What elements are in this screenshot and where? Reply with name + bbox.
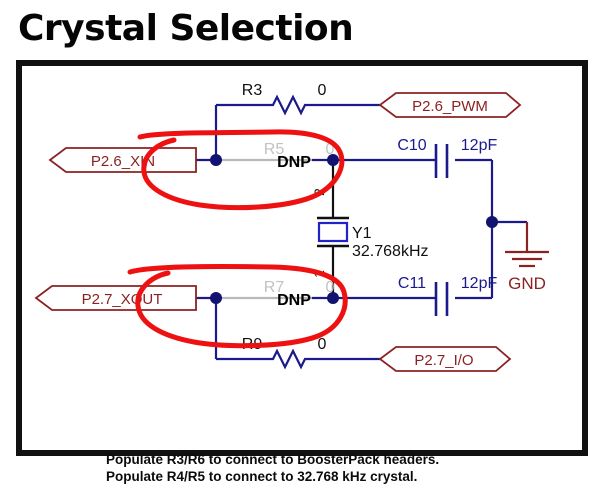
resistor-r3[interactable] <box>269 97 312 113</box>
net-label-p26-pwm-text: P2.6_PWM <box>412 98 488 115</box>
page-title: Crystal Selection <box>18 8 353 49</box>
net-label-p27-xout-text: P2.7_XOUT <box>82 291 163 308</box>
note-line-1: Populate R3/R6 to connect to BoosterPack… <box>106 451 439 468</box>
label-y1-designator: Y1 <box>352 225 372 242</box>
junction-xin <box>210 154 222 166</box>
label-r3-value: 0 <box>318 82 327 99</box>
crystal-circuit-schematic: P2.6_XIN P2.7_XOUT P2.6_PWM P2.7_I/O R3 … <box>22 66 582 450</box>
label-r5-dnp-status: DNP <box>277 154 311 171</box>
gnd-connection <box>505 222 549 266</box>
schematic-notes: Populate R3/R6 to connect to BoosterPack… <box>106 451 439 485</box>
label-y1-value: 32.768kHz <box>352 243 429 260</box>
note-line-2: Populate R4/R5 to connect to 32.768 kHz … <box>106 468 439 485</box>
net-label-p26-xin[interactable]: P2.6_XIN <box>50 148 196 172</box>
label-gnd: GND <box>508 274 546 293</box>
label-r7-dnp-status: DNP <box>277 292 311 309</box>
junction-gnd-rail <box>486 216 498 228</box>
capacitor-c10[interactable] <box>436 144 447 178</box>
net-label-p26-pwm[interactable]: P2.6_PWM <box>380 93 520 117</box>
label-c11-value: 12pF <box>461 275 498 292</box>
net-label-p27-io[interactable]: P2.7_I/O <box>380 347 510 371</box>
schematic-frame: P2.6_XIN P2.7_XOUT P2.6_PWM P2.7_I/O R3 … <box>16 60 588 456</box>
label-r9-value: 0 <box>318 336 327 353</box>
dnp-wire-network <box>216 160 269 298</box>
resistor-r9[interactable] <box>269 351 312 367</box>
label-c10-designator: C10 <box>397 137 426 154</box>
label-r3-designator: R3 <box>242 82 263 99</box>
net-label-p27-xout[interactable]: P2.7_XOUT <box>36 286 196 310</box>
junction-xout <box>210 292 222 304</box>
label-c11-designator: C11 <box>398 275 426 292</box>
capacitor-c11[interactable] <box>436 282 447 316</box>
label-c10-value: 12pF <box>461 137 498 154</box>
net-label-p27-io-text: P2.7_I/O <box>414 352 473 369</box>
